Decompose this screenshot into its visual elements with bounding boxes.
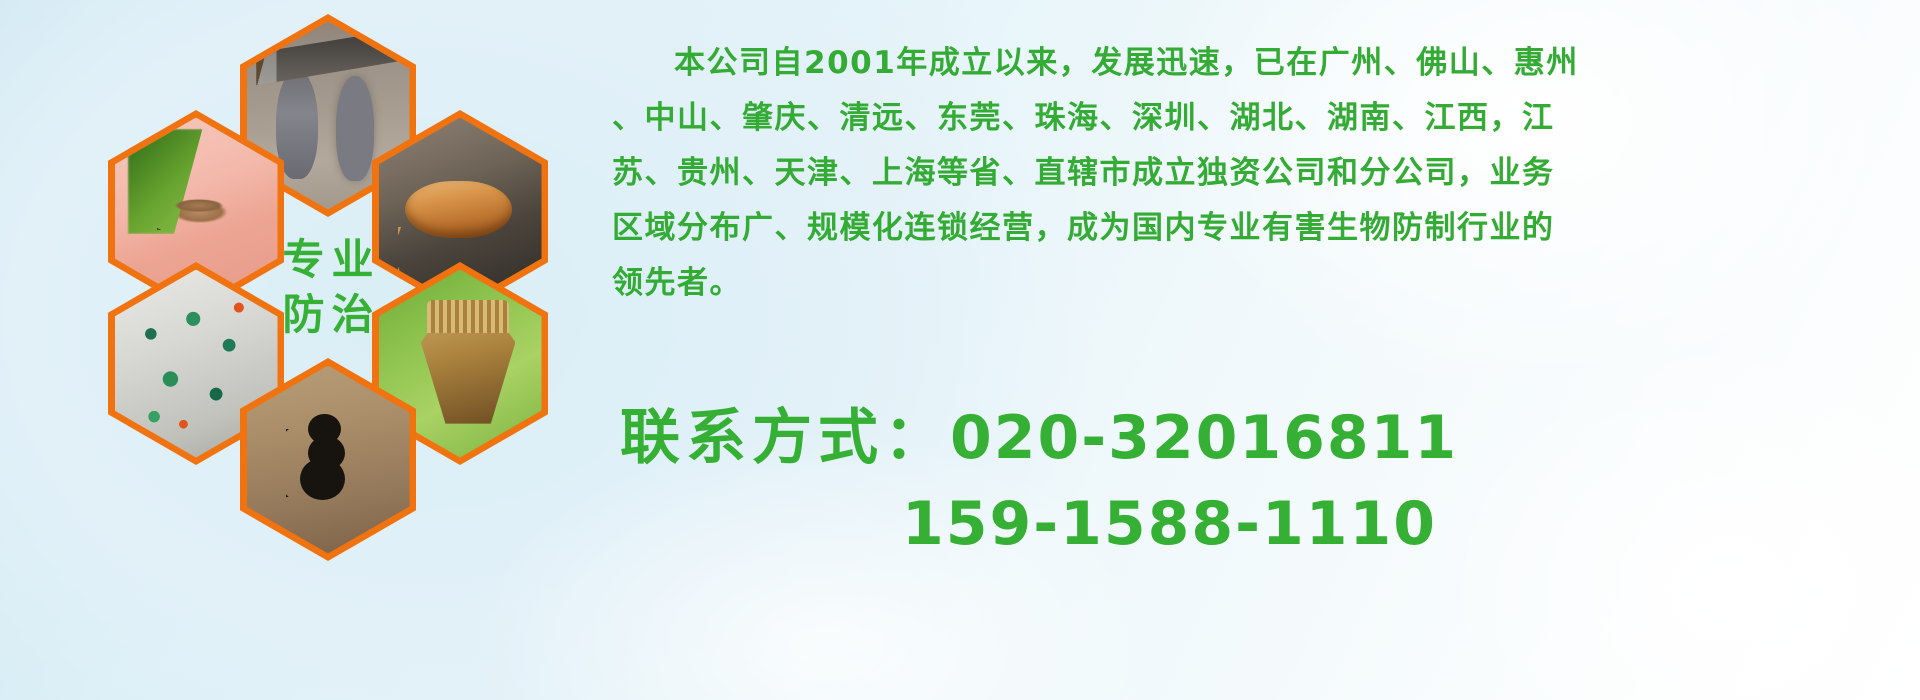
contact-mobile-value[interactable]: 159-1588-1110 bbox=[902, 489, 1437, 559]
slogan-line-2: 防治 bbox=[275, 293, 380, 337]
contact-label: 联系方式： bbox=[620, 403, 950, 473]
contact-phone-value[interactable]: 020-32016811 bbox=[950, 403, 1458, 473]
ant-photo bbox=[247, 366, 410, 554]
about-line-3: 苏、贵州、天津、上海等省、直辖市成立独资公司和分公司，业务 bbox=[612, 146, 1902, 201]
about-line-4: 区域分布广、规模化连锁经营，成为国内专业有害生物防制行业的 bbox=[612, 201, 1902, 256]
pest-control-banner: 专业 防治 本公司自2001年成立以来，发展迅速，已在广州、佛山、惠州 、中山、… bbox=[0, 0, 1920, 700]
about-line-5: 领先者。 bbox=[612, 256, 1902, 311]
about-line-2: 、中山、肇庆、清远、东莞、珠海、深圳、湖北、湖南、江西，江 bbox=[612, 91, 1902, 146]
company-description: 本公司自2001年成立以来，发展迅速，已在广州、佛山、惠州 、中山、肇庆、清远、… bbox=[612, 36, 1902, 311]
hex-inner bbox=[247, 366, 410, 554]
contact-phone-line[interactable]: 联系方式：020-32016811 bbox=[620, 395, 1910, 481]
contact-mobile-line[interactable]: 159-1588-1110 bbox=[620, 481, 1910, 567]
contact-block: 联系方式：020-32016811 159-1588-1110 bbox=[620, 395, 1910, 567]
hex-cell-slogan: 专业 防治 bbox=[240, 186, 416, 389]
slogan-line-1: 专业 bbox=[275, 238, 380, 282]
hexagon-photo-collage: 专业 防治 bbox=[86, 6, 586, 556]
about-line-1: 本公司自2001年成立以来，发展迅速，已在广州、佛山、惠州 bbox=[612, 36, 1902, 91]
